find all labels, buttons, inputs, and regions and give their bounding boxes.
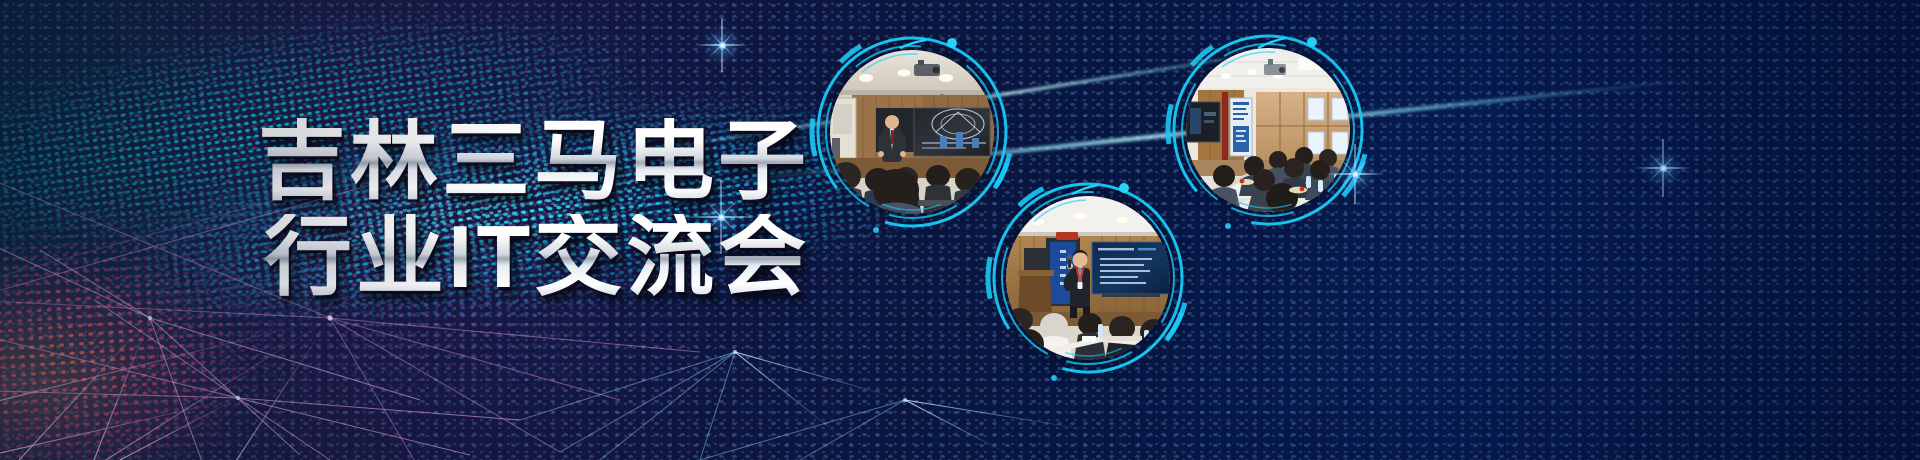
vignette-overlay	[0, 0, 1920, 460]
event-banner: 吉林三马电子 行业IT交流会	[0, 0, 1920, 460]
